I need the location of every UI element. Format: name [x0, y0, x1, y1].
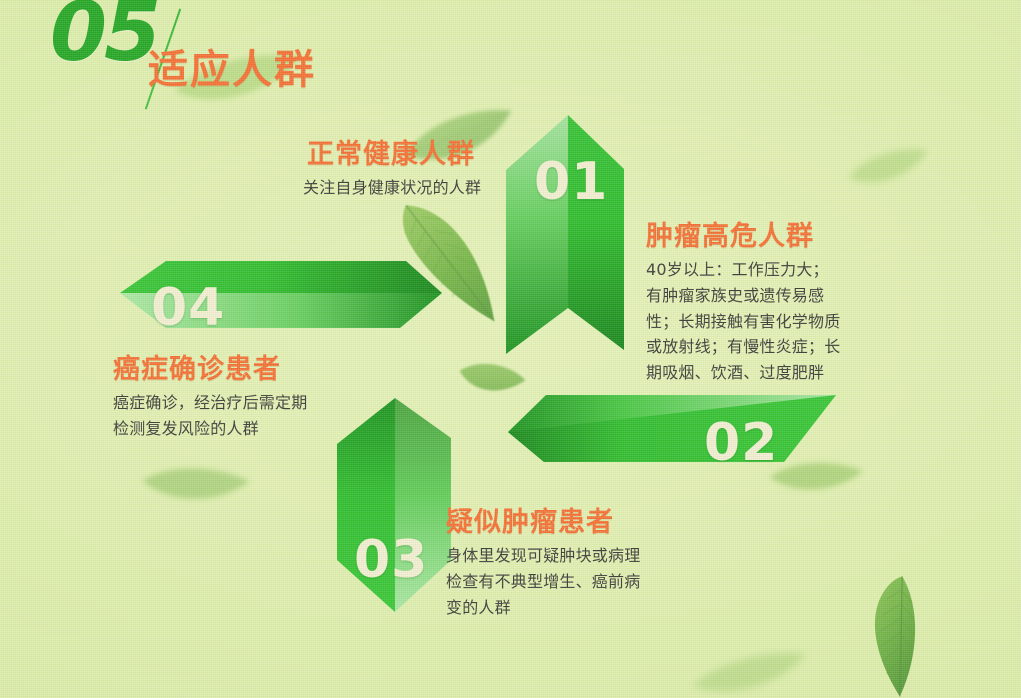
item-01-text-block: 正常健康人群 关注自身健康状况的人群 — [303, 140, 603, 201]
item-02-heading: 肿瘤高危人群 — [646, 222, 946, 252]
item-02-text-block: 肿瘤高危人群 40岁以上：工作压力大； 有肿瘤家族史或遗传易感 性；长期接触有害… — [646, 222, 946, 386]
leaf-decoration-bottom-right — [860, 572, 929, 698]
page-title: 适应人群 — [148, 50, 316, 90]
item-02-body: 40岁以上：工作压力大； 有肿瘤家族史或遗传易感 性；长期接触有害化学物质 或放… — [646, 257, 946, 387]
leaf-decoration-left-small — [137, 453, 254, 519]
leaf-decoration-bottom-center — [688, 646, 812, 698]
item-01-heading: 正常健康人群 — [307, 140, 603, 170]
item-04-text-block: 癌症确诊患者 癌症确诊，经治疗后需定期 检测复发风险的人群 — [113, 355, 423, 442]
item-04-body: 癌症确诊，经治疗后需定期 检测复发风险的人群 — [113, 390, 423, 442]
item-03-text-block: 疑似肿瘤患者 身体里发现可疑肿块或病理 检查有不典型增生、癌前病 变的人群 — [446, 508, 746, 620]
section-number: 05 — [50, 0, 158, 74]
item-03-body: 身体里发现可疑肿块或病理 检查有不典型增生、癌前病 变的人群 — [446, 543, 746, 621]
item-01-body: 关注自身健康状况的人群 — [303, 175, 603, 201]
item-04-heading: 癌症确诊患者 — [113, 355, 423, 385]
page-header: 05 适应人群 — [44, 2, 464, 112]
item-03-heading: 疑似肿瘤患者 — [446, 508, 746, 538]
infographic-canvas: 05 适应人群 01 — [0, 0, 1021, 698]
arrow-04-left: 04 — [110, 258, 446, 358]
arrow-02-right: 02 — [504, 392, 844, 500]
leaf-decoration-right-upper — [844, 142, 935, 194]
